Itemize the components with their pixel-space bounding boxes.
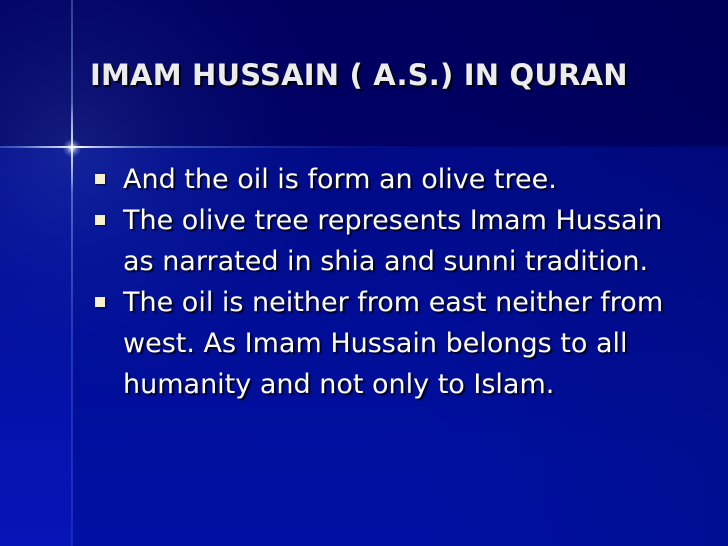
bullet-text: The oil is neither from east neither fro… <box>123 282 688 405</box>
bullet-item-1: And the oil is form an olive tree. <box>88 159 688 200</box>
bullet-item-3: The oil is neither from east neither fro… <box>88 282 688 405</box>
slide-content: IMAM HUSSAIN ( A.S.) IN QURAN And the oi… <box>0 0 728 546</box>
slide-title: IMAM HUSSAIN ( A.S.) IN QURAN <box>90 58 690 92</box>
presentation-slide: IMAM HUSSAIN ( A.S.) IN QURAN And the oi… <box>0 0 728 546</box>
bullet-item-2: The olive tree represents Imam Hussain a… <box>88 200 688 282</box>
square-bullet-icon <box>95 215 105 225</box>
square-bullet-icon <box>95 174 105 184</box>
square-bullet-icon <box>95 297 105 307</box>
bullet-text: The olive tree represents Imam Hussain a… <box>123 200 688 282</box>
bullet-list: And the oil is form an olive tree. The o… <box>88 159 688 405</box>
bullet-text: And the oil is form an olive tree. <box>123 159 688 200</box>
